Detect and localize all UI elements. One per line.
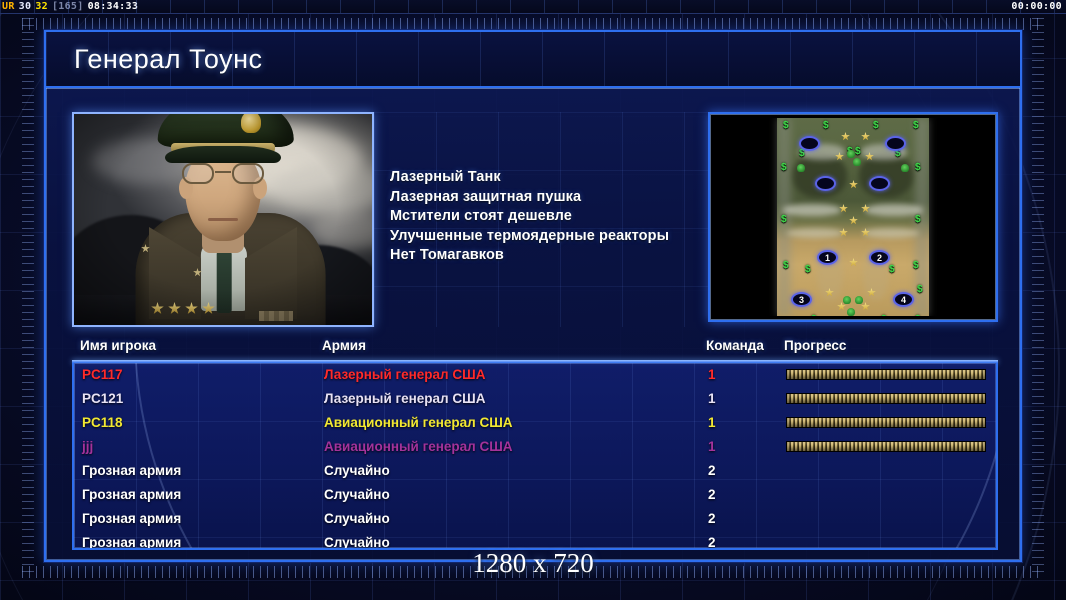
progress-bar-fill bbox=[787, 442, 985, 451]
cell-team: 1 bbox=[708, 411, 716, 435]
map-star-icon bbox=[861, 132, 870, 141]
cell-team: 2 bbox=[708, 507, 716, 531]
map-start-position[interactable] bbox=[815, 176, 836, 191]
progress-bar-fill bbox=[787, 394, 985, 403]
cell-team: 1 bbox=[708, 363, 716, 387]
cell-player-name: PC118 bbox=[82, 411, 123, 435]
cell-army: Случайно bbox=[324, 531, 390, 550]
map-start-position[interactable] bbox=[799, 136, 820, 151]
ruler-left bbox=[22, 18, 34, 578]
map-start-position[interactable]: 1 bbox=[817, 250, 838, 265]
cell-team: 2 bbox=[708, 531, 716, 550]
map-start-position[interactable] bbox=[869, 176, 890, 191]
map-star-icon bbox=[861, 302, 870, 311]
topbar-clock: 08:34:33 bbox=[88, 1, 139, 12]
progress-bar bbox=[786, 441, 986, 452]
description-line: Лазерная защитная пушка bbox=[390, 188, 708, 208]
cell-army: Авиационный генерал США bbox=[324, 435, 513, 459]
map-preview[interactable]: $$$$$$$$$$$$$$$$$$$$1234 bbox=[708, 112, 998, 322]
map-tree-icon bbox=[847, 308, 855, 316]
description-line: Лазерный Танк bbox=[390, 168, 708, 188]
map-star-icon bbox=[849, 258, 858, 267]
header-player-name: Имя игрока bbox=[80, 338, 156, 353]
ruler-top bbox=[22, 18, 1044, 30]
table-row[interactable]: Грозная армияСлучайно2 bbox=[74, 531, 996, 550]
progress-bar-fill bbox=[787, 370, 985, 379]
cell-army: Лазерный генерал США bbox=[324, 387, 485, 411]
top-bar-ticks bbox=[0, 0, 1066, 13]
general-info-row: Лазерный ТанкЛазерная защитная пушкаМсти… bbox=[72, 112, 998, 327]
map-star-icon bbox=[849, 180, 858, 189]
supply-money-icon: $ bbox=[781, 162, 787, 173]
table-row[interactable]: PC121Лазерный генерал США1 bbox=[74, 387, 996, 411]
topbar-label: UR bbox=[2, 1, 15, 12]
header-army: Армия bbox=[322, 338, 366, 353]
topbar-value-2: 32 bbox=[35, 1, 48, 12]
description-line: Мстители стоят дешевле bbox=[390, 207, 708, 227]
table-row[interactable]: Грозная армияСлучайно2 bbox=[74, 459, 996, 483]
map-star-icon bbox=[849, 216, 858, 225]
supply-money-icon: $ bbox=[781, 214, 787, 225]
cell-team: 2 bbox=[708, 483, 716, 507]
header-progress: Прогресс bbox=[784, 338, 846, 353]
supply-money-icon: $ bbox=[811, 314, 817, 316]
table-row[interactable]: PC117Лазерный генерал США1 bbox=[74, 363, 996, 387]
page-title: Генерал Тоунс bbox=[74, 44, 263, 75]
supply-money-icon: $ bbox=[913, 260, 919, 271]
cell-army: Лазерный генерал США bbox=[324, 363, 485, 387]
player-table-header: Имя игрока Армия Команда Прогресс bbox=[72, 338, 998, 360]
supply-money-icon: $ bbox=[783, 120, 789, 131]
supply-money-icon: $ bbox=[783, 260, 789, 271]
title-bar: Генерал Тоунс bbox=[46, 32, 1020, 88]
general-portrait bbox=[72, 112, 374, 327]
progress-bar bbox=[786, 369, 986, 380]
progress-bar-fill bbox=[787, 418, 985, 427]
progress-bar bbox=[786, 417, 986, 428]
supply-money-icon: $ bbox=[881, 314, 887, 316]
cell-team: 1 bbox=[708, 435, 716, 459]
map-tree-icon bbox=[855, 296, 863, 304]
map-start-position[interactable] bbox=[885, 136, 906, 151]
table-row[interactable]: Грозная армияСлучайно2 bbox=[74, 507, 996, 531]
cell-player-name: PC117 bbox=[82, 363, 123, 387]
cell-player-name: Грозная армия bbox=[82, 507, 181, 531]
cell-team: 2 bbox=[708, 459, 716, 483]
map-terrain-feature bbox=[783, 204, 841, 216]
cell-player-name: PC121 bbox=[82, 387, 123, 411]
progress-bar bbox=[786, 393, 986, 404]
top-status-bar: UR 30 32 [165] 08:34:33 00:00:00 bbox=[0, 0, 1066, 14]
topbar-bracket: [165] bbox=[52, 1, 84, 12]
cell-player-name: Грозная армия bbox=[82, 483, 181, 507]
map-terrain-feature bbox=[863, 228, 919, 238]
portrait-vignette bbox=[74, 114, 372, 325]
supply-money-icon: $ bbox=[889, 264, 895, 275]
player-table: Имя игрока Армия Команда Прогресс PC117Л… bbox=[72, 338, 998, 550]
supply-money-icon: $ bbox=[855, 146, 861, 157]
table-row[interactable]: PC118Авиационный генерал США1 bbox=[74, 411, 996, 435]
map-terrain-feature bbox=[787, 228, 843, 238]
map-terrain: $$$$$$$$$$$$$$$$$$$$1234 bbox=[777, 118, 929, 316]
description-line: Нет Томагавков bbox=[390, 246, 708, 266]
cell-player-name: Грозная армия bbox=[82, 459, 181, 483]
supply-money-icon: $ bbox=[823, 120, 829, 131]
description-line: Улучшенные термоядерные реакторы bbox=[390, 227, 708, 247]
supply-money-icon: $ bbox=[915, 314, 921, 316]
table-row[interactable]: jjjАвиационный генерал США1 bbox=[74, 435, 996, 459]
cell-team: 1 bbox=[708, 387, 716, 411]
map-tree-icon bbox=[901, 164, 909, 172]
panel-content: Лазерный ТанкЛазерная защитная пушкаМсти… bbox=[46, 90, 1020, 560]
cell-army: Случайно bbox=[324, 483, 390, 507]
map-tree-icon bbox=[843, 296, 851, 304]
description-list: Лазерный ТанкЛазерная защитная пушкаМсти… bbox=[390, 168, 708, 266]
cell-player-name: Грозная армия bbox=[82, 531, 181, 550]
header-team: Команда bbox=[706, 338, 764, 353]
supply-money-icon: $ bbox=[917, 284, 923, 295]
map-preview-inner: $$$$$$$$$$$$$$$$$$$$1234 bbox=[714, 118, 992, 316]
top-bar-left-group: UR 30 32 [165] 08:34:33 bbox=[0, 1, 138, 12]
cell-army: Случайно bbox=[324, 459, 390, 483]
cell-army: Случайно bbox=[324, 507, 390, 531]
ruler-bottom bbox=[22, 566, 1044, 578]
topbar-timer: 00:00:00 bbox=[1011, 1, 1066, 12]
map-start-position[interactable]: 4 bbox=[893, 292, 914, 307]
map-tree-icon bbox=[847, 150, 855, 158]
map-star-icon bbox=[841, 132, 850, 141]
map-start-position[interactable]: 3 bbox=[791, 292, 812, 307]
map-tree-icon bbox=[797, 164, 805, 172]
supply-money-icon: $ bbox=[873, 120, 879, 131]
player-rows: PC117Лазерный генерал США1PC121Лазерный … bbox=[74, 363, 996, 550]
supply-money-icon: $ bbox=[915, 214, 921, 225]
ruler-right bbox=[1032, 18, 1044, 578]
cell-army: Авиационный генерал США bbox=[324, 411, 513, 435]
cell-player-name: jjj bbox=[82, 435, 93, 459]
map-start-position[interactable]: 2 bbox=[869, 250, 890, 265]
main-panel: Генерал Тоунс bbox=[44, 30, 1022, 562]
screen-root: UR 30 32 [165] 08:34:33 00:00:00 Генерал… bbox=[0, 0, 1066, 600]
map-terrain-feature bbox=[859, 154, 913, 198]
supply-money-icon: $ bbox=[915, 162, 921, 173]
map-tree-icon bbox=[853, 158, 861, 166]
supply-money-icon: $ bbox=[805, 264, 811, 275]
general-description: Лазерный ТанкЛазерная защитная пушкаМсти… bbox=[374, 112, 708, 327]
table-row[interactable]: Грозная армияСлучайно2 bbox=[74, 483, 996, 507]
player-table-body: PC117Лазерный генерал США1PC121Лазерный … bbox=[72, 363, 998, 550]
topbar-value-1: 30 bbox=[19, 1, 32, 12]
supply-money-icon: $ bbox=[913, 120, 919, 131]
